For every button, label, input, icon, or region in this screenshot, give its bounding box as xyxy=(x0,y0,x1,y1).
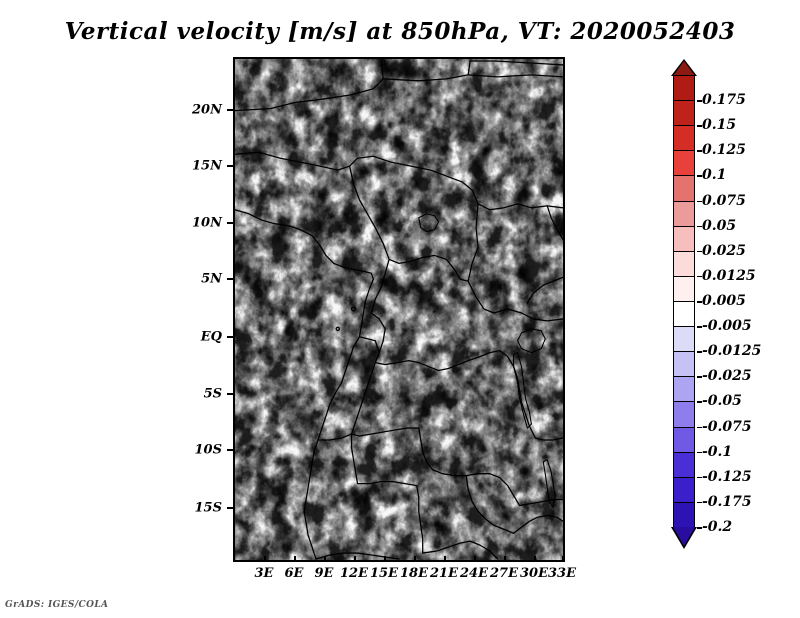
map-plot-area[interactable] xyxy=(233,57,565,562)
ytick-label-10N: 10N xyxy=(192,216,222,231)
colorbar-segment xyxy=(673,251,695,278)
colorbar-segment xyxy=(673,175,695,202)
colorbar-segment xyxy=(673,502,695,529)
xtick-mark-18E xyxy=(414,556,416,562)
xtick-label-9E: 9E xyxy=(315,566,334,581)
ytick-mark-15N xyxy=(227,165,233,167)
xtick-label-15E: 15E xyxy=(370,566,398,581)
colorbar-tick-mark xyxy=(697,427,702,429)
colorbar-tick-label: -0.075 xyxy=(702,419,752,435)
colorbar-segment xyxy=(673,477,695,504)
xtick-mark-30E xyxy=(534,556,536,562)
colorbar-segment xyxy=(673,301,695,328)
colorbar-tick-label: -0.0125 xyxy=(702,343,761,359)
country-borders-overlay xyxy=(235,59,563,560)
colorbar-tick-label: -0.005 xyxy=(702,318,752,334)
colorbar-tick-mark xyxy=(697,125,702,127)
colorbar-tick-label: 0.15 xyxy=(702,117,736,133)
colorbar-segment xyxy=(673,150,695,177)
colorbar-tick-mark xyxy=(697,326,702,328)
ytick-label-15N: 15N xyxy=(192,159,222,174)
page-title: Vertical velocity [m/s] at 850hPa, VT: 2… xyxy=(0,18,800,45)
colorbar-tick-label: 0.1 xyxy=(702,167,726,183)
colorbar-tick-label: -0.125 xyxy=(702,469,752,485)
colorbar-tick-mark xyxy=(697,502,702,504)
grads-figure: Vertical velocity [m/s] at 850hPa, VT: 2… xyxy=(0,0,800,618)
xtick-mark-12E xyxy=(354,556,356,562)
colorbar-tick-mark xyxy=(697,351,702,353)
xtick-mark-9E xyxy=(324,556,326,562)
xtick-mark-33E xyxy=(562,556,564,562)
colorbar-segment xyxy=(673,326,695,353)
ytick-label-EQ: EQ xyxy=(201,330,222,345)
colorbar-tick-mark xyxy=(697,276,702,278)
colorbar-segment xyxy=(673,376,695,403)
colorbar-tick-mark xyxy=(697,201,702,203)
colorbar-tick-label: -0.2 xyxy=(702,519,732,535)
colorbar-tick-label: -0.025 xyxy=(702,368,752,384)
ytick-label-15S: 15S xyxy=(195,501,222,516)
colorbar-tick-label: 0.005 xyxy=(702,293,746,309)
ytick-mark-10S xyxy=(227,449,233,451)
colorbar-tick-mark xyxy=(697,251,702,253)
xtick-label-30E: 30E xyxy=(520,566,548,581)
colorbar-tick-label: 0.075 xyxy=(702,193,746,209)
xtick-mark-6E xyxy=(294,556,296,562)
ytick-label-5S: 5S xyxy=(204,387,222,402)
colorbar-tick-label: -0.1 xyxy=(702,444,732,460)
credit-text: GrADS: IGES/COLA xyxy=(5,600,108,610)
colorbar-segment xyxy=(673,75,695,102)
colorbar-segment xyxy=(673,201,695,228)
xtick-label-33E: 33E xyxy=(548,566,576,581)
ytick-mark-EQ xyxy=(227,336,233,338)
colorbar-tick-label: 0.025 xyxy=(702,243,746,259)
ytick-mark-5S xyxy=(227,393,233,395)
ytick-mark-15S xyxy=(227,507,233,509)
colorbar-bottom-arrow xyxy=(673,527,695,546)
colorbar-top-arrow xyxy=(673,61,695,76)
ytick-label-5N: 5N xyxy=(201,272,222,287)
colorbar-tick-mark xyxy=(697,477,702,479)
colorbar-tick-label: -0.05 xyxy=(702,393,742,409)
colorbar-segment xyxy=(673,351,695,378)
colorbar-segment xyxy=(673,427,695,454)
ytick-mark-5N xyxy=(227,278,233,280)
colorbar-tick-mark xyxy=(697,376,702,378)
colorbar-tick-label: -0.175 xyxy=(702,494,752,510)
colorbar-segment xyxy=(673,100,695,127)
colorbar-tick-mark xyxy=(697,452,702,454)
xtick-label-21E: 21E xyxy=(430,566,458,581)
xtick-label-18E: 18E xyxy=(400,566,428,581)
ytick-mark-20N xyxy=(227,109,233,111)
xtick-mark-27E xyxy=(504,556,506,562)
colorbar-tick-label: 0.125 xyxy=(702,142,746,158)
ytick-label-10S: 10S xyxy=(195,443,222,458)
colorbar-tick-mark xyxy=(697,401,702,403)
xtick-mark-15E xyxy=(384,556,386,562)
xtick-mark-24E xyxy=(474,556,476,562)
xtick-label-12E: 12E xyxy=(340,566,368,581)
ytick-mark-10N xyxy=(227,222,233,224)
xtick-label-3E: 3E xyxy=(255,566,274,581)
colorbar[interactable] xyxy=(673,75,695,527)
colorbar-tick-mark xyxy=(697,527,702,529)
xtick-mark-3E xyxy=(264,556,266,562)
xtick-mark-21E xyxy=(444,556,446,562)
colorbar-tick-mark xyxy=(697,301,702,303)
colorbar-tick-label: 0.175 xyxy=(702,92,746,108)
colorbar-segment xyxy=(673,452,695,479)
colorbar-segment xyxy=(673,226,695,253)
xtick-label-24E: 24E xyxy=(460,566,488,581)
colorbar-segment xyxy=(673,401,695,428)
colorbar-tick-mark xyxy=(697,226,702,228)
colorbar-segment xyxy=(673,125,695,152)
colorbar-tick-label: 0.0125 xyxy=(702,268,756,284)
colorbar-tick-label: 0.05 xyxy=(702,218,736,234)
ytick-label-20N: 20N xyxy=(192,103,222,118)
colorbar-tick-mark xyxy=(697,100,702,102)
colorbar-segment xyxy=(673,276,695,303)
xtick-label-27E: 27E xyxy=(490,566,518,581)
colorbar-tick-mark xyxy=(697,175,702,177)
colorbar-tick-mark xyxy=(697,150,702,152)
xtick-label-6E: 6E xyxy=(285,566,304,581)
